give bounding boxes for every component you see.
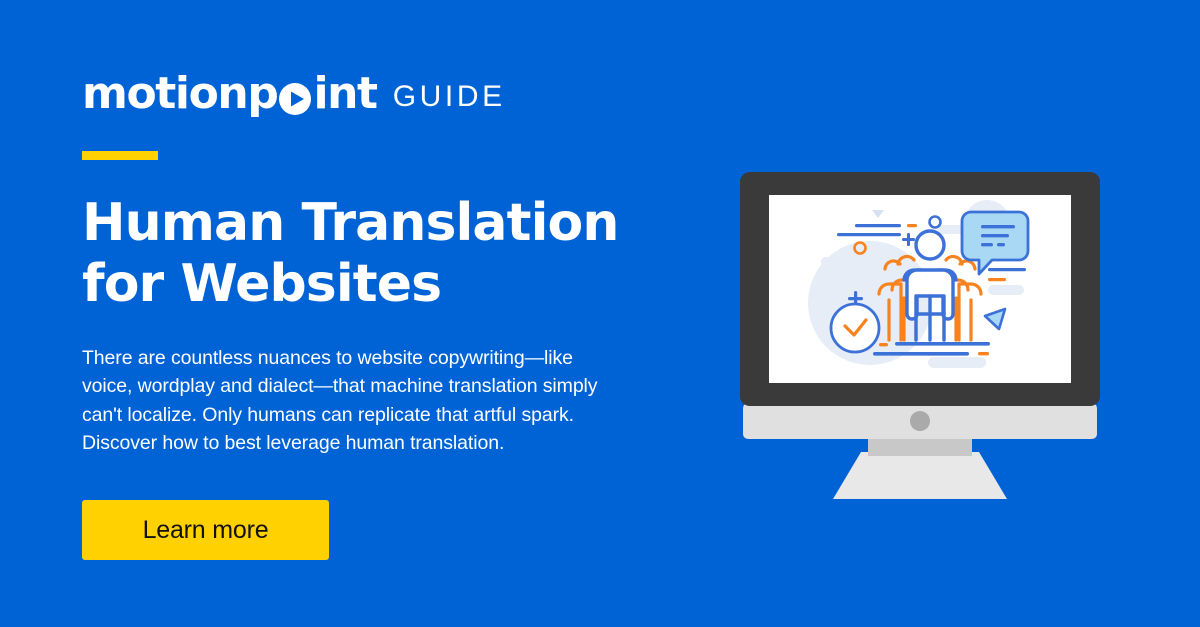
play-circle-icon [278, 80, 312, 114]
page-title: Human Translation for Websites [82, 193, 627, 316]
logo-guide-label: GUIDE [393, 80, 506, 114]
line-mark-blue [873, 352, 969, 356]
learn-more-button[interactable]: Learn more [82, 500, 329, 560]
line-mark-orange [879, 343, 888, 346]
content-column: motionp int GUIDE Human Translation for … [82, 0, 642, 627]
logo-wordmark: motionp int [82, 72, 377, 116]
line-mark-blue [988, 268, 1026, 271]
line-mark-orange [988, 278, 1006, 281]
desktop-monitor-illustration [735, 168, 1105, 508]
pill-mark [988, 285, 1024, 295]
pill-mark [821, 257, 851, 266]
pill-mark [938, 225, 964, 234]
line-mark-orange [907, 224, 917, 227]
monitor-stand-neck [868, 438, 972, 456]
monitor-stand-base [833, 452, 1007, 499]
accent-rule [82, 151, 158, 160]
monitor-power-dot [910, 411, 930, 431]
line-mark-blue [837, 233, 901, 236]
pill-mark [928, 357, 986, 368]
line-mark-blue [855, 224, 901, 227]
logo-wordmark-suffix: int [313, 72, 376, 116]
brand-logo[interactable]: motionp int GUIDE [82, 72, 506, 116]
promo-banner: motionp int GUIDE Human Translation for … [0, 0, 1200, 627]
logo-wordmark-prefix: motionp [82, 72, 277, 116]
body-paragraph: There are countless nuances to website c… [82, 344, 607, 458]
line-mark-blue [895, 342, 990, 346]
line-mark-orange [978, 352, 989, 355]
check-circle-icon [831, 304, 879, 352]
